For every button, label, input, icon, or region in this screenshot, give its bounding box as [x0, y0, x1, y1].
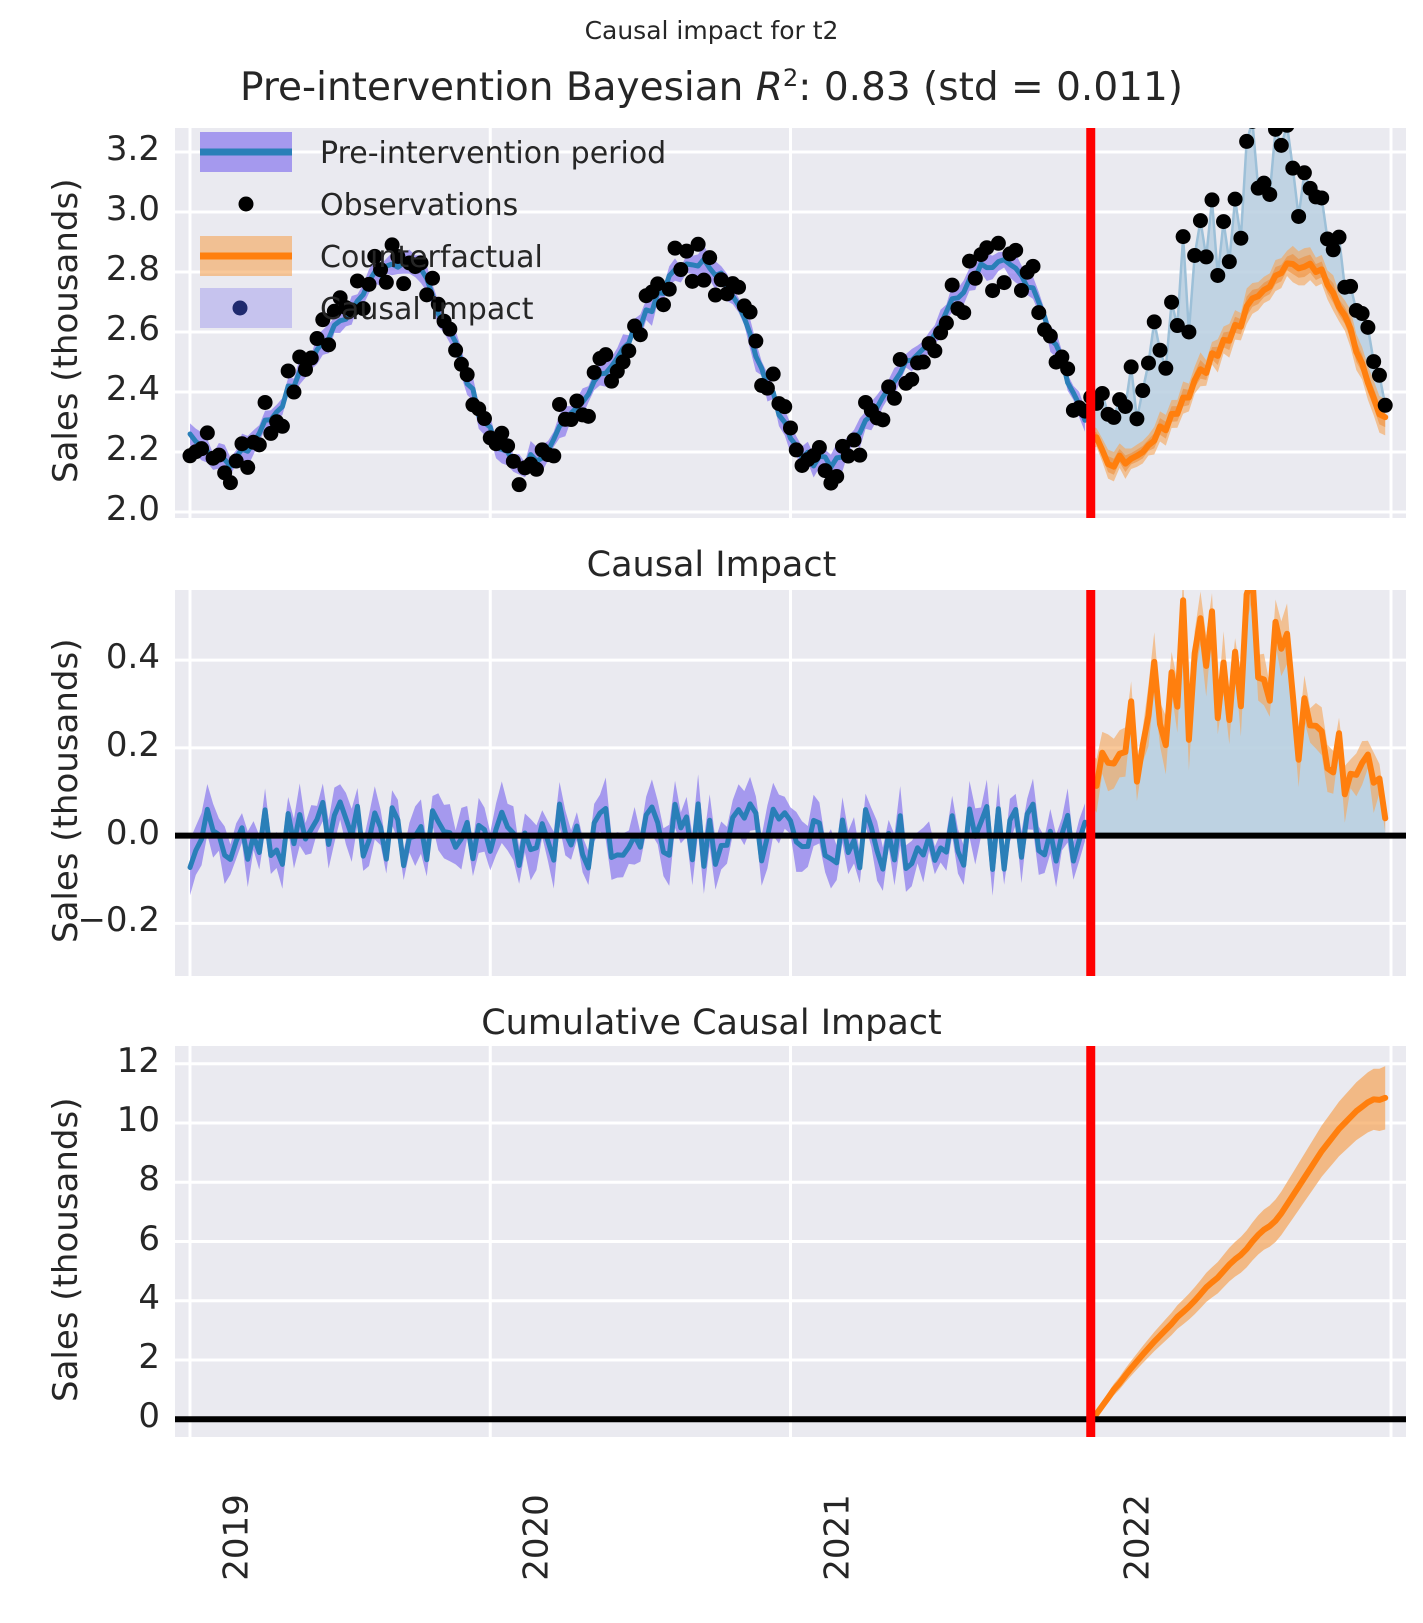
causal-impact-figure: Pre-intervention periodObservationsCount… [0, 0, 1423, 1623]
observation-point [956, 305, 971, 320]
observation-point [552, 397, 567, 412]
observation-point [696, 273, 711, 288]
observation-point [939, 316, 954, 331]
panel-3-title: Cumulative Causal Impact [0, 1003, 1423, 1043]
observation-point [621, 343, 636, 358]
observation-point [1193, 213, 1208, 228]
observation-point [1031, 305, 1046, 320]
observation-point [1176, 229, 1191, 244]
legend-swatch-dot [239, 197, 254, 212]
observation-point [1343, 279, 1358, 294]
observation-point [362, 277, 377, 292]
observation-point [500, 438, 515, 453]
observation-point [1008, 243, 1023, 258]
observation-point [1210, 268, 1225, 283]
figure-subtitle: Pre-intervention Bayesian R2: 0.83 (std … [0, 64, 1423, 110]
observation-point [783, 420, 798, 435]
legend-label: Observations [320, 188, 518, 223]
legend-label: Counterfactual [320, 240, 543, 275]
observation-point [304, 351, 319, 366]
observation-point [760, 381, 775, 396]
observation-point [702, 250, 717, 265]
observation-point [1233, 231, 1248, 246]
observation-point [1141, 356, 1156, 371]
observation-point [1014, 283, 1029, 298]
panel-1-ylabel: Sales (thousands) [46, 179, 86, 483]
observation-point [829, 469, 844, 484]
observation-point [887, 391, 902, 406]
panel-2-title: Causal Impact [0, 545, 1423, 585]
xtick-2022: 2022 [1117, 1494, 1157, 1581]
observation-point [396, 276, 411, 291]
observation-point [1222, 254, 1237, 269]
observation-point [1060, 361, 1075, 376]
observation-point [875, 412, 890, 427]
observation-point [598, 347, 613, 362]
observation-point [1158, 361, 1173, 376]
panel-3-ytick: 12 [0, 1041, 160, 1081]
observation-point [252, 437, 267, 452]
observation-point [1262, 187, 1277, 202]
observation-point [968, 271, 983, 286]
observation-point [662, 282, 677, 297]
xtick-2021: 2021 [817, 1494, 857, 1581]
observation-point [1147, 314, 1162, 329]
legend-label: Pre-intervention period [320, 136, 666, 171]
observation-point [847, 433, 862, 448]
observation-point [1366, 354, 1381, 369]
observation-point [1245, 114, 1260, 129]
observation-point [240, 460, 255, 475]
observation-point [211, 448, 226, 463]
observation-point [546, 448, 561, 463]
observation-point [777, 399, 792, 414]
observation-point [673, 262, 688, 277]
observation-point [1095, 386, 1110, 401]
panel-1-ytick: 2.0 [0, 489, 160, 529]
observation-point [812, 440, 827, 455]
subtitle-exponent: 2 [783, 64, 798, 92]
observation-point [321, 337, 336, 352]
observation-point [1205, 192, 1220, 207]
observation-point [448, 343, 463, 358]
observation-point [477, 411, 492, 426]
observation-point [1332, 230, 1347, 245]
observation-point [945, 278, 960, 293]
panel-3-ylabel: Sales (thousands) [46, 1097, 86, 1401]
observation-point [1164, 295, 1179, 310]
xtick-2020: 2020 [517, 1494, 557, 1581]
observation-point [379, 275, 394, 290]
observation-point [1239, 134, 1254, 149]
observation-point [691, 237, 706, 252]
xtick-2019: 2019 [216, 1494, 256, 1581]
observation-point [1372, 368, 1387, 383]
subtitle-suffix: : 0.83 (std = 0.011) [798, 65, 1183, 110]
observation-point [904, 372, 919, 387]
panel-1-ytick: 3.2 [0, 129, 160, 169]
observation-point [460, 367, 475, 382]
observation-point [789, 442, 804, 457]
observation-point [633, 327, 648, 342]
observation-point [1199, 249, 1214, 264]
observation-point [1291, 209, 1306, 224]
observation-point [1106, 410, 1121, 425]
observation-point [1228, 192, 1243, 207]
legend-label: Causal impact [320, 292, 534, 327]
observation-point [991, 236, 1006, 251]
observation-point [1043, 329, 1058, 344]
observation-point [1129, 411, 1144, 426]
observation-point [927, 343, 942, 358]
observation-point [200, 425, 215, 440]
observation-point [1135, 383, 1150, 398]
observation-point [743, 305, 758, 320]
observation-point [1280, 118, 1295, 133]
panel-2-ylabel: Sales (thousands) [46, 639, 86, 943]
observation-point [529, 462, 544, 477]
panel-3-ytick: 0 [0, 1396, 160, 1436]
observation-point [1216, 214, 1231, 229]
observation-point [286, 385, 301, 400]
observation-point [1274, 138, 1289, 153]
observation-point [1355, 306, 1370, 321]
observation-point [1124, 359, 1139, 374]
observation-point [766, 367, 781, 382]
observation-point [1297, 165, 1312, 180]
legend-swatch-dot [233, 301, 248, 316]
observation-point [569, 393, 584, 408]
observation-point [281, 363, 296, 378]
observation-point [731, 280, 746, 295]
observation-point [512, 477, 527, 492]
observation-point [1026, 259, 1041, 274]
observation-point [1378, 398, 1393, 413]
observation-point [258, 395, 273, 410]
xtick-2023: 2023 [1417, 1494, 1423, 1581]
subtitle-prefix: Pre-intervention Bayesian [240, 65, 756, 110]
figure-suptitle: Causal impact for t2 [0, 16, 1423, 45]
observation-point [1314, 190, 1329, 205]
observation-point [1181, 324, 1196, 339]
observation-point [852, 448, 867, 463]
observation-point [275, 419, 290, 434]
subtitle-symbol: R [756, 65, 783, 110]
observation-point [587, 365, 602, 380]
observation-point [1360, 320, 1375, 335]
observation-point [748, 334, 763, 349]
observation-point [1153, 343, 1168, 358]
observation-point [1118, 399, 1133, 414]
observation-point [581, 409, 596, 424]
observation-point [1268, 122, 1283, 137]
observation-point [916, 355, 931, 370]
observation-point [656, 297, 671, 312]
observation-point [997, 275, 1012, 290]
observation-point [194, 441, 209, 456]
observation-point [893, 352, 908, 367]
observation-point [223, 475, 238, 490]
